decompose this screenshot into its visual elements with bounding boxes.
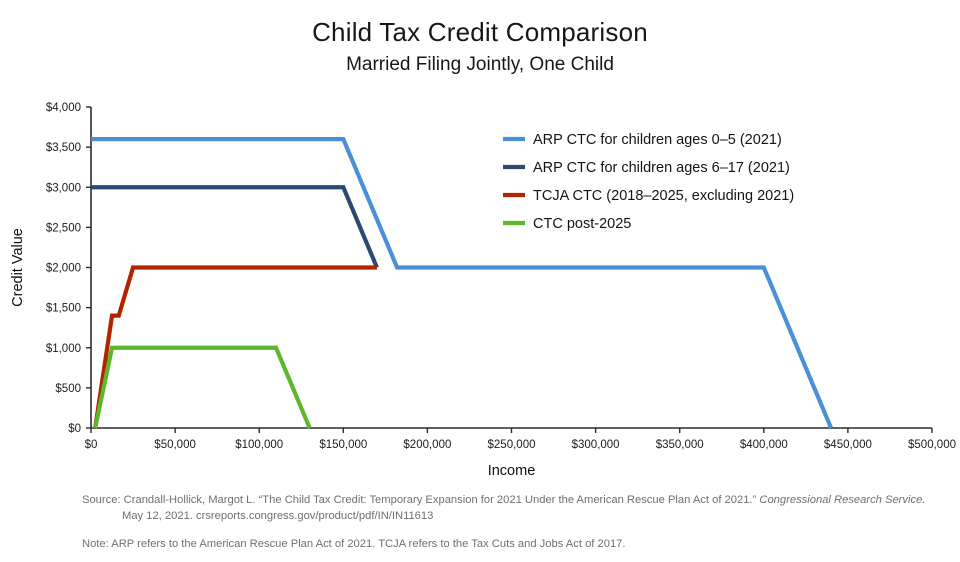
y-tick-label: $2,500 [46,222,81,234]
x-tick-label: $50,000 [154,439,196,451]
line-chart-plot: $0$500$1,000$1,500$2,000$2,500$3,000$3,5… [0,0,960,562]
x-tick-label: $200,000 [403,439,451,451]
series-line [95,348,309,428]
legend-label: ARP CTC for children ages 0–5 (2021) [533,132,782,148]
note-line: Note: ARP refers to the American Rescue … [82,536,950,552]
y-tick-label: $4,000 [46,102,81,114]
x-axis-title: Income [488,463,536,479]
x-tick-label: $500,000 [908,439,956,451]
chart-legend: ARP CTC for children ages 0–5 (2021)ARP … [503,132,794,232]
chart-container: Child Tax Credit Comparison Married Fili… [0,0,960,562]
source-line-2: May 12, 2021. crsreports.congress.gov/pr… [82,508,950,524]
y-tick-label: $1,500 [46,303,81,315]
source-text-main: Source: Crandall-Hollick, Margot L. “The… [82,494,759,506]
x-tick-label: $0 [85,439,98,451]
y-tick-label: $500 [55,383,81,395]
legend-label: ARP CTC for children ages 6–17 (2021) [533,160,790,176]
y-tick-label: $3,000 [46,182,81,194]
footnotes-block: Source: Crandall-Hollick, Margot L. “The… [82,492,950,553]
y-tick-label: $0 [68,423,81,435]
x-tick-label: $250,000 [488,439,536,451]
footnote-spacer [82,524,950,536]
y-tick-label: $1,000 [46,343,81,355]
y-tick-label: $2,000 [46,263,81,275]
source-line-1: Source: Crandall-Hollick, Margot L. “The… [82,492,950,508]
y-tick-label: $3,500 [46,142,81,154]
series-line [91,139,831,428]
x-tick-label: $100,000 [235,439,283,451]
x-tick-label: $350,000 [656,439,704,451]
x-tick-label: $450,000 [824,439,872,451]
legend-label: TCJA CTC (2018–2025, excluding 2021) [533,188,794,204]
x-tick-label: $300,000 [572,439,620,451]
legend-label: CTC post-2025 [533,216,631,232]
x-tick-label: $400,000 [740,439,788,451]
series-line [91,187,377,267]
x-tick-label: $150,000 [319,439,367,451]
source-publisher: Congressional Research Service. [759,494,925,506]
series-layer [91,139,831,428]
y-axis-title: Credit Value [10,228,26,307]
